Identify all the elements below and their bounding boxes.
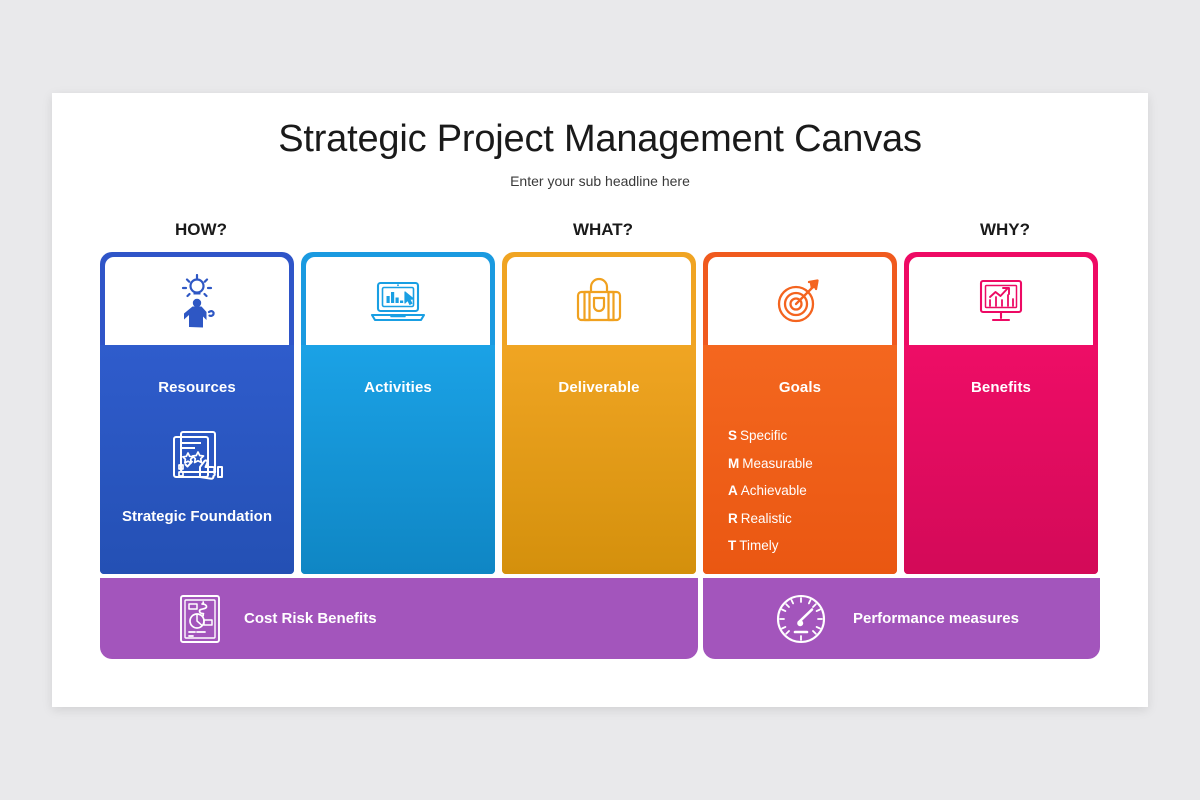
- column-goals-head: [708, 257, 892, 345]
- column-resources[interactable]: Resources Strategic Foundation: [100, 252, 294, 574]
- laptop-bar-chart-cursor-icon: [369, 278, 427, 324]
- column-title: Activities: [301, 379, 495, 396]
- report-pie-dollar-icon: [178, 593, 222, 645]
- smart-word: Achievable: [741, 483, 807, 498]
- target-arrow-icon: [773, 276, 827, 326]
- bar-cost-risk-benefits[interactable]: Cost Risk Benefits: [100, 578, 698, 659]
- smart-word: Specific: [740, 428, 787, 443]
- column-activities-head: [306, 257, 490, 345]
- checklist-stars-thumbsup-icon: [100, 428, 294, 482]
- slide-canvas: Strategic Project Management Canvas Ente…: [52, 93, 1148, 707]
- column-resources-body: Resources Strategic Foundation: [100, 345, 294, 574]
- smart-word: Realistic: [741, 511, 792, 526]
- list-item: SSpecific: [728, 422, 897, 450]
- column-title: Resources: [100, 379, 294, 396]
- smart-letter: M: [728, 456, 739, 471]
- smart-word: Timely: [739, 538, 778, 553]
- smart-goals-list: SSpecific MMeasurable AAchievable RReali…: [703, 422, 897, 560]
- speedometer-gauge-icon: [775, 593, 827, 645]
- page-title: Strategic Project Management Canvas: [52, 118, 1148, 161]
- column-goals[interactable]: Goals SSpecific MMeasurable AAchievable …: [703, 252, 897, 574]
- person-with-lightbulb-icon: [171, 274, 223, 328]
- column-title: Deliverable: [502, 379, 696, 396]
- smart-letter: S: [728, 428, 737, 443]
- list-item: MMeasurable: [728, 450, 897, 478]
- column-title: Goals: [703, 379, 897, 396]
- column-subtitle: Strategic Foundation: [100, 508, 294, 525]
- list-item: TTimely: [728, 532, 897, 560]
- column-activities-body: Activities: [301, 345, 495, 574]
- section-header-what: WHAT?: [506, 220, 700, 240]
- column-benefits[interactable]: Benefits: [904, 252, 1098, 574]
- list-item: RRealistic: [728, 505, 897, 533]
- smart-word: Measurable: [742, 456, 813, 471]
- column-goals-body: Goals SSpecific MMeasurable AAchievable …: [703, 345, 897, 574]
- column-resources-head: [105, 257, 289, 345]
- section-header-how: HOW?: [104, 220, 298, 240]
- bar-label: Cost Risk Benefits: [244, 610, 377, 627]
- column-title: Benefits: [904, 379, 1098, 396]
- column-benefits-body: Benefits: [904, 345, 1098, 574]
- bottom-bars-row: Cost Risk Benefits: [100, 578, 1100, 659]
- column-deliverable-head: [507, 257, 691, 345]
- smart-letter: R: [728, 511, 738, 526]
- briefcase-icon: [573, 276, 625, 326]
- columns-row: Resources Strategic Foundation: [100, 252, 1100, 574]
- page-subtitle: Enter your sub headline here: [52, 173, 1148, 189]
- smart-letter: T: [728, 538, 736, 553]
- column-activities[interactable]: Activities: [301, 252, 495, 574]
- column-deliverable-body: Deliverable: [502, 345, 696, 574]
- column-benefits-head: [909, 257, 1093, 345]
- smart-letter: A: [728, 483, 738, 498]
- monitor-growth-chart-icon: [975, 276, 1027, 326]
- column-deliverable[interactable]: Deliverable: [502, 252, 696, 574]
- section-header-why: WHY?: [908, 220, 1102, 240]
- bar-label: Performance measures: [853, 610, 1019, 627]
- list-item: AAchievable: [728, 477, 897, 505]
- bar-performance-measures[interactable]: Performance measures: [703, 578, 1100, 659]
